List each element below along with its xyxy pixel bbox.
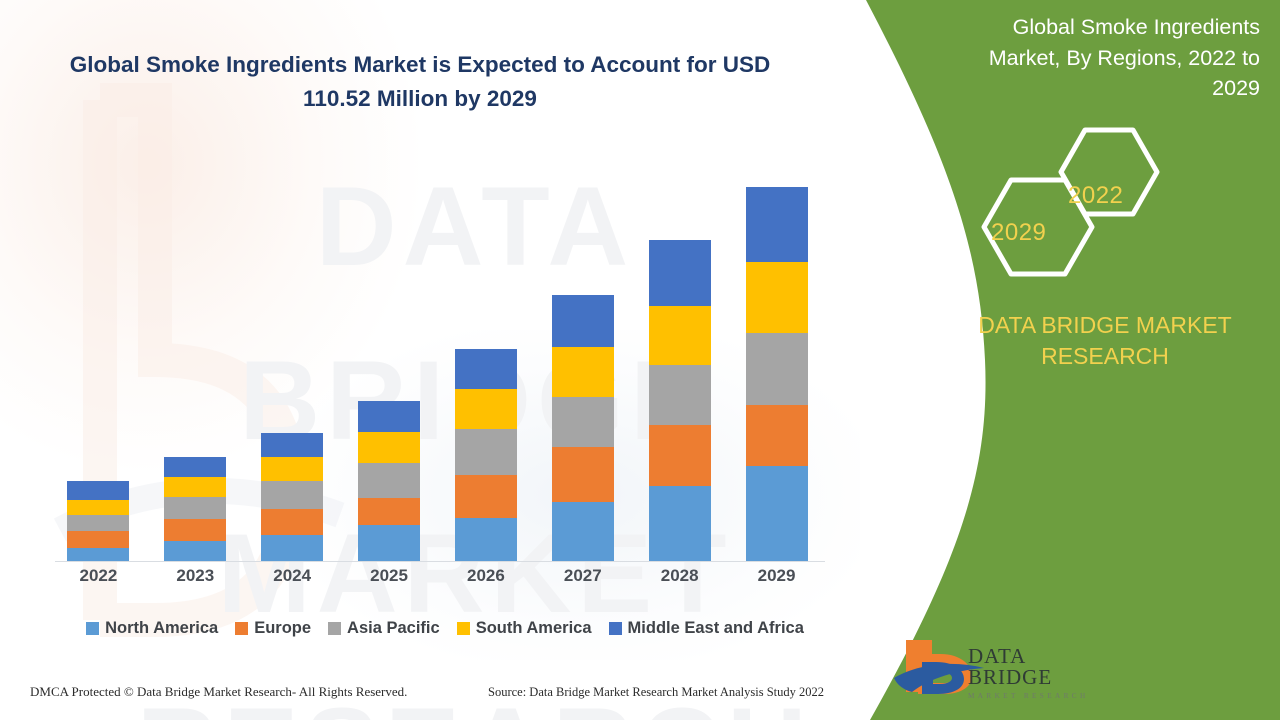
x-tick-label: 2026 xyxy=(438,566,535,592)
bar-segment xyxy=(552,502,614,561)
legend-swatch-icon xyxy=(235,622,248,635)
bar-segment xyxy=(358,401,420,432)
legend-swatch-icon xyxy=(457,622,470,635)
brand-name: DATA BRIDGE MARKET RESEARCH xyxy=(955,310,1255,372)
bar-segment xyxy=(649,306,711,365)
bar-column xyxy=(438,150,535,561)
legend-item[interactable]: South America xyxy=(457,619,592,638)
bar-segment xyxy=(164,541,226,561)
x-tick-label: 2024 xyxy=(244,566,341,592)
x-axis-line xyxy=(55,561,825,562)
legend-label: Middle East and Africa xyxy=(628,619,804,638)
bar-column xyxy=(244,150,341,561)
bar-segment xyxy=(67,531,129,548)
legend-label: North America xyxy=(105,619,218,638)
legend-swatch-icon xyxy=(609,622,622,635)
bar-segment xyxy=(67,548,129,561)
bar-column xyxy=(534,150,631,561)
bar-column xyxy=(147,150,244,561)
bar-segment xyxy=(358,463,420,498)
bar-segment xyxy=(746,405,808,466)
chart-legend: North AmericaEuropeAsia PacificSouth Ame… xyxy=(55,616,835,640)
bar-segment xyxy=(164,477,226,497)
bar-segment xyxy=(67,515,129,531)
legend-item[interactable]: North America xyxy=(86,619,218,638)
plot-area xyxy=(50,150,825,562)
stacked-bar xyxy=(261,433,323,561)
legend-item[interactable]: Asia Pacific xyxy=(328,619,440,638)
bar-segment xyxy=(746,466,808,561)
hexagon-badges: 2022 2029 xyxy=(975,112,1185,282)
copyright-notice: DMCA Protected © Data Bridge Market Rese… xyxy=(30,684,407,700)
bar-group xyxy=(50,150,825,561)
bar-segment xyxy=(261,481,323,509)
bar-segment xyxy=(746,333,808,405)
x-axis-tick-labels: 20222023202420252026202720282029 xyxy=(50,566,825,592)
bar-column xyxy=(728,150,825,561)
bar-segment xyxy=(164,497,226,519)
bar-segment xyxy=(649,240,711,306)
legend-label: South America xyxy=(476,619,592,638)
stacked-bar xyxy=(67,481,129,561)
bar-segment xyxy=(649,425,711,486)
legend-item[interactable]: Europe xyxy=(235,619,311,638)
bar-segment xyxy=(455,475,517,518)
hexagon-2029-label: 2029 xyxy=(991,219,1046,247)
bar-segment xyxy=(164,457,226,477)
stacked-bar xyxy=(164,457,226,561)
bar-segment xyxy=(552,295,614,347)
bar-column xyxy=(341,150,438,561)
x-tick-label: 2028 xyxy=(631,566,728,592)
x-tick-label: 2023 xyxy=(147,566,244,592)
legend-swatch-icon xyxy=(86,622,99,635)
legend-item[interactable]: Middle East and Africa xyxy=(609,619,804,638)
legend-label: Asia Pacific xyxy=(347,619,440,638)
stacked-bar xyxy=(746,187,808,561)
logo-wordmark: DATA BRIDGE MARKET RESEARCH xyxy=(968,646,1108,700)
infographic-canvas: DATA BRIDGE MARKET RESEARCH Global Smoke… xyxy=(0,0,1280,720)
bar-segment xyxy=(358,498,420,525)
logo-tagline: MARKET RESEARCH xyxy=(968,693,1108,700)
legend-label: Europe xyxy=(254,619,311,638)
stacked-bar xyxy=(455,349,517,561)
bar-segment xyxy=(649,365,711,425)
source-note: Source: Data Bridge Market Research Mark… xyxy=(488,685,824,700)
logo-name: DATA BRIDGE xyxy=(968,646,1108,688)
bar-segment xyxy=(455,429,517,475)
bar-segment xyxy=(649,486,711,561)
x-tick-label: 2027 xyxy=(534,566,631,592)
bar-segment xyxy=(358,432,420,463)
bar-segment xyxy=(261,535,323,561)
bar-segment xyxy=(261,509,323,535)
panel-title: Global Smoke Ingredients Market, By Regi… xyxy=(960,12,1260,104)
bar-segment xyxy=(261,433,323,457)
bar-segment xyxy=(746,262,808,333)
legend-swatch-icon xyxy=(328,622,341,635)
x-tick-label: 2022 xyxy=(50,566,147,592)
stacked-bar-chart xyxy=(50,150,825,562)
bar-segment xyxy=(455,349,517,389)
bar-segment xyxy=(358,525,420,561)
x-tick-label: 2029 xyxy=(728,566,825,592)
x-tick-label: 2025 xyxy=(341,566,438,592)
bar-segment xyxy=(164,519,226,541)
stacked-bar xyxy=(552,295,614,561)
bar-segment xyxy=(67,500,129,515)
bar-segment xyxy=(552,347,614,397)
page-title: Global Smoke Ingredients Market is Expec… xyxy=(55,48,785,116)
bar-segment xyxy=(552,447,614,502)
bar-segment xyxy=(552,397,614,447)
bar-column xyxy=(50,150,147,561)
bar-segment xyxy=(746,187,808,262)
bar-segment xyxy=(261,457,323,481)
bar-column xyxy=(631,150,728,561)
hexagon-2022-label: 2022 xyxy=(1068,182,1123,210)
bar-segment xyxy=(455,518,517,561)
bar-segment xyxy=(455,389,517,429)
bar-segment xyxy=(67,481,129,500)
stacked-bar xyxy=(649,240,711,561)
stacked-bar xyxy=(358,401,420,561)
